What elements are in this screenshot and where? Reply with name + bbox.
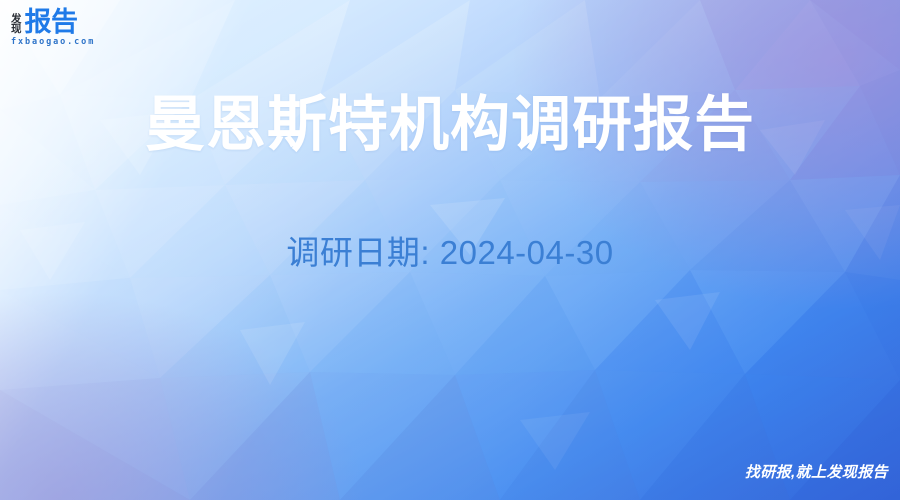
brand-tagline: 找研报,就上发现报告 (745, 461, 888, 482)
survey-date-subtitle: 调研日期: 2024-04-30 (0, 233, 900, 273)
logo-wordmark-baogao: 报告 (25, 10, 78, 36)
logo-mark-char-xian: 现 (11, 24, 22, 35)
logo-mark-faxian: 发 现 (11, 14, 22, 36)
report-cover-slide: 发 现 报告 fxbaogao.com 曼恩斯特机构调研报告 调研日期: 202… (0, 0, 900, 500)
fxbaogao-logo[interactable]: 发 现 报告 fxbaogao.com (11, 9, 131, 51)
page-title: 曼恩斯特机构调研报告 (0, 93, 900, 157)
logo-wordmark-row: 发 现 报告 (11, 9, 131, 36)
logo-url-text: fxbaogao.com (11, 37, 131, 47)
